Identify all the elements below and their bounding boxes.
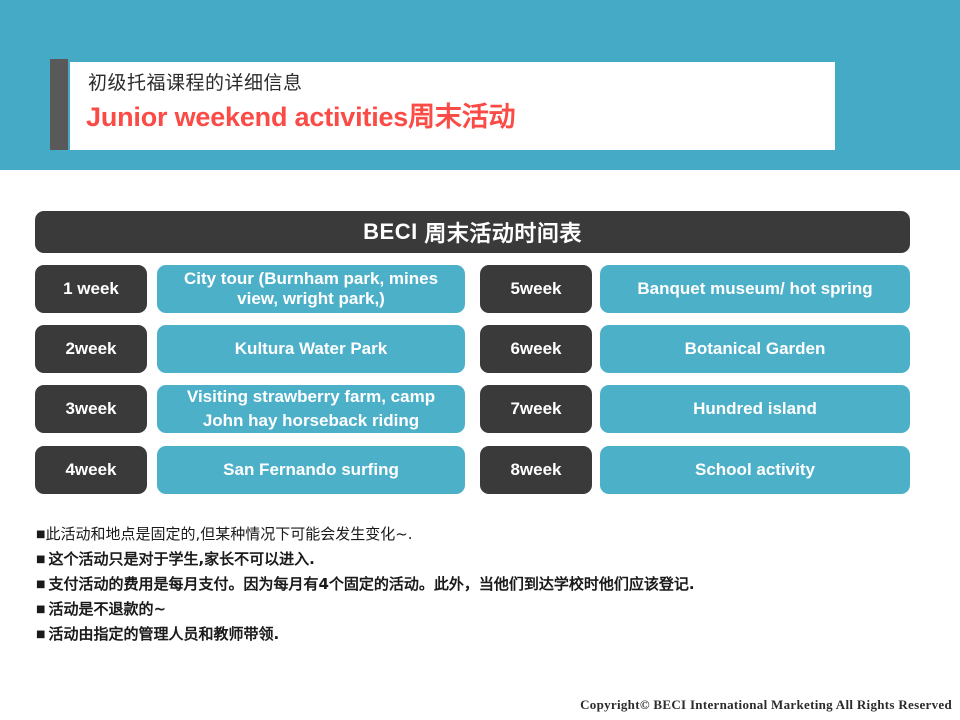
note-item: ■ 这个活动只是对于学生,家长不可以进入.: [36, 547, 936, 572]
week-label-8: 8week: [480, 446, 592, 494]
week-label-4: 4week: [35, 446, 147, 494]
activity-cell-2[interactable]: Kultura Water Park: [157, 325, 465, 373]
square-bullet-icon: ■: [36, 572, 45, 597]
square-bullet-icon: ■: [36, 597, 45, 622]
note-text: 此活动和地点是固定的,但某种情况下可能会发生变化~.: [45, 522, 412, 547]
note-text: 这个活动只是对于学生,家长不可以进入.: [48, 547, 314, 572]
square-bullet-icon: ■: [36, 622, 45, 647]
activity-text-2: Kultura Water Park: [157, 339, 465, 359]
week-label-5: 5week: [480, 265, 592, 313]
activity-cell-1[interactable]: City tour (Burnham park, mines view, wri…: [157, 265, 465, 313]
activity-text-8: School activity: [600, 460, 910, 480]
note-text: 活动由指定的管理人员和教师带领.: [48, 622, 279, 647]
footer-copyright: Copyright© BECI International Marketing …: [580, 697, 952, 713]
activity-cell-6[interactable]: Botanical Garden: [600, 325, 910, 373]
activity-cell-3[interactable]: Visiting strawberry farm, camp John hay …: [157, 385, 465, 433]
note-text: 支付活动的费用是每月支付。因为每月有4个固定的活动。此外，当他们到达学校时他们应…: [48, 572, 694, 597]
note-item: ■ 活动是不退款的~: [36, 597, 936, 622]
week-label-3: 3week: [35, 385, 147, 433]
activity-text-5: Banquet museum/ hot spring: [600, 279, 910, 299]
activity-cell-7[interactable]: Hundred island: [600, 385, 910, 433]
notes-list: ■ 此活动和地点是固定的,但某种情况下可能会发生变化~. ■ 这个活动只是对于学…: [36, 522, 936, 647]
activity-text-4: San Fernando surfing: [157, 460, 465, 480]
activity-cell-5[interactable]: Banquet museum/ hot spring: [600, 265, 910, 313]
activity-text-3: Visiting strawberry farm, camp John hay …: [157, 385, 465, 433]
activity-cell-4[interactable]: San Fernando surfing: [157, 446, 465, 494]
square-bullet-icon: ■: [36, 547, 45, 572]
note-item: ■ 此活动和地点是固定的,但某种情况下可能会发生变化~.: [36, 522, 936, 547]
week-label-1: 1 week: [35, 265, 147, 313]
square-bullet-icon: ■: [36, 522, 45, 547]
note-item: ■ 支付活动的费用是每月支付。因为每月有4个固定的活动。此外，当他们到达学校时他…: [36, 572, 936, 597]
week-label-6: 6week: [480, 325, 592, 373]
week-label-2: 2week: [35, 325, 147, 373]
week-label-7: 7week: [480, 385, 592, 433]
activity-text-1: City tour (Burnham park, mines view, wri…: [157, 269, 465, 309]
slide-canvas: 初级托福课程的详细信息 Junior weekend activities周末活…: [0, 0, 960, 720]
activity-text-6: Botanical Garden: [600, 339, 910, 359]
activity-cell-8[interactable]: School activity: [600, 446, 910, 494]
note-item: ■ 活动由指定的管理人员和教师带领.: [36, 622, 936, 647]
activity-text-7: Hundred island: [600, 399, 910, 419]
note-text: 活动是不退款的~: [48, 597, 166, 622]
